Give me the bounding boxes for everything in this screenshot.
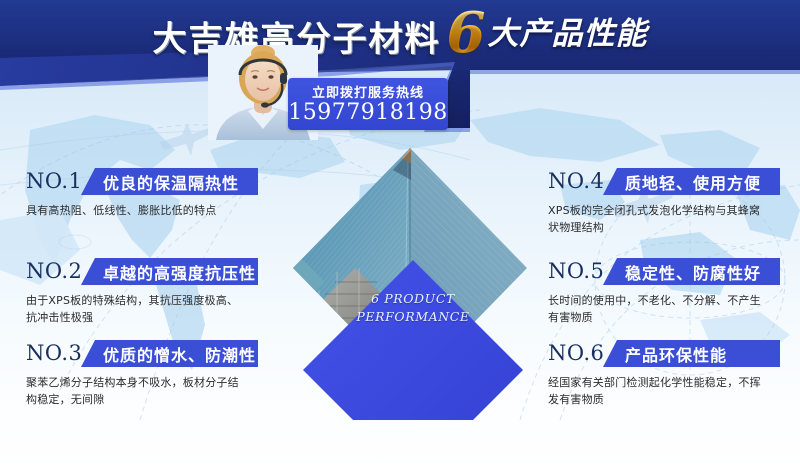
feature-number: NO.5 [548,259,604,283]
feature-title: 卓越的高强度抗压性 [81,258,258,284]
feature-header: NO.5 稳定性、防腐性好 [548,258,780,286]
feature-number: NO.1 [26,169,82,193]
feature-header: NO.3 优质的憎水、防潮性 [26,340,258,368]
feature-description: 由于XPS板的特殊结构，其抗压强度极高、抗冲击性极强 [26,292,244,326]
feature-title-bar: 质地轻、使用方便 [603,168,780,195]
feature-title: 质地轻、使用方便 [603,168,780,194]
poster-root: 大吉雄高分子材料6大产品性能 [0,0,800,474]
feature-description: XPS板的完全闭孔式发泡化学结构与其蜂窝状物理结构 [548,202,766,236]
hotline-number: 15977918198 [288,101,448,124]
feature-title-bar: 优良的保温隔热性 [81,168,258,195]
feature-number: NO.3 [26,341,82,365]
diamond-caption-line2: PERFORMANCE [354,308,472,326]
feature-item-5[interactable]: NO.5 稳定性、防腐性好 长时间的使用中，不老化、不分解、不产生有害物质 [548,258,780,326]
feature-description: 聚苯乙烯分子结构本身不吸水，板材分子结构稳定，无间隙 [26,374,244,408]
feature-description: 具有高热阻、低线性、膨胀比低的特点 [26,202,244,219]
feature-number: NO.4 [548,169,604,193]
feature-title: 优质的憎水、防潮性 [81,340,258,366]
feature-title: 产品环保性能 [603,340,780,366]
diamond-caption-line1: 6 PRODUCT [354,290,472,308]
feature-number: NO.6 [548,341,604,365]
feature-header: NO.1 优良的保温隔热性 [26,168,258,196]
feature-number: NO.2 [26,259,82,283]
hotline-label: 立即拨打服务热线 [288,78,448,101]
feature-title-bar: 卓越的高强度抗压性 [81,258,258,285]
feature-header: NO.6 产品环保性能 [548,340,780,368]
feature-title: 优良的保温隔热性 [81,168,258,194]
feature-header: NO.2 卓越的高强度抗压性 [26,258,258,286]
feature-description: 长时间的使用中，不老化、不分解、不产生有害物质 [548,292,766,326]
feature-title-bar: 产品环保性能 [603,340,780,367]
feature-title-bar: 稳定性、防腐性好 [603,258,780,285]
feature-header: NO.4 质地轻、使用方便 [548,168,780,196]
feature-item-4[interactable]: NO.4 质地轻、使用方便 XPS板的完全闭孔式发泡化学结构与其蜂窝状物理结构 [548,168,780,236]
feature-description: 经国家有关部门检测起化学性能稳定，不挥发有害物质 [548,374,766,408]
hotline-box[interactable]: 立即拨打服务热线 15977918198 [288,78,448,130]
feature-title-bar: 优质的憎水、防潮性 [81,340,258,367]
feature-title: 稳定性、防腐性好 [603,258,780,284]
diamond-caption: 6 PRODUCT PERFORMANCE [354,290,472,326]
feature-item-3[interactable]: NO.3 优质的憎水、防潮性 聚苯乙烯分子结构本身不吸水，板材分子结构稳定，无间… [26,340,258,408]
feature-item-6[interactable]: NO.6 产品环保性能 经国家有关部门检测起化学性能稳定，不挥发有害物质 [548,340,780,408]
feature-item-1[interactable]: NO.1 优良的保温隔热性 具有高热阻、低线性、膨胀比低的特点 [26,168,258,219]
center-diamond-graphic [285,140,535,420]
feature-item-2[interactable]: NO.2 卓越的高强度抗压性 由于XPS板的特殊结构，其抗压强度极高、抗冲击性极… [26,258,258,326]
header-banner: 大吉雄高分子材料6大产品性能 [0,0,800,150]
